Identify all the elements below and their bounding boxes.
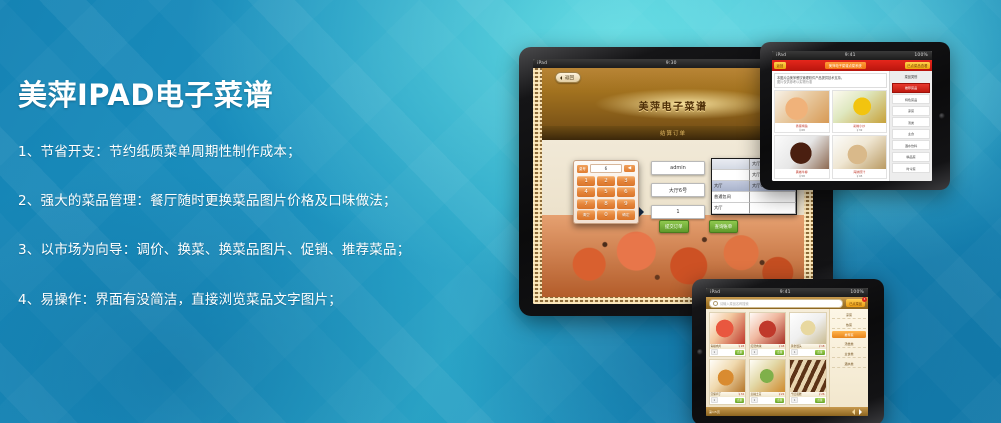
promo-banner: 美萍IPAD电子菜谱 1、节省开支：节约纸质菜单周期性制作成本； 2、强大的菜品… xyxy=(0,0,1001,423)
dish-image xyxy=(775,136,829,169)
login-field-group: admin 大厅6号 1 xyxy=(651,161,705,219)
submit-order-button[interactable]: 提交订单 xyxy=(659,220,689,233)
query-bill-button[interactable]: 查询账单 xyxy=(709,220,739,233)
dish-actions: 1 点菜 xyxy=(750,349,786,356)
dish-price: ￥26 xyxy=(818,392,824,396)
dish-name: 红烧肉块 xyxy=(751,344,762,348)
keypad-input-row: 桌号 6 ◀ xyxy=(577,164,635,173)
search-input[interactable]: 请输入菜品名称搜索 xyxy=(709,299,843,308)
dish-card[interactable]: 宫保鸡丁 ￥32 1 点菜 xyxy=(709,359,747,404)
dish-image xyxy=(710,313,746,344)
status-carrier: iPad xyxy=(537,61,547,66)
back-button[interactable]: 返回 xyxy=(555,72,581,83)
feature-bullet-4: 4、易操作：界面有没简洁，直接浏览菜品文字图片； xyxy=(18,292,458,308)
dish-name: 宫保鸡丁 xyxy=(711,392,722,396)
app-body: 青椒肉片 ￥28 1 点菜 红烧肉块 xyxy=(706,309,868,407)
dish-price: ￥28 xyxy=(738,344,744,348)
table-field[interactable]: 大厅6号 xyxy=(651,183,705,197)
keypad-key-0[interactable]: 0 xyxy=(597,210,615,220)
table-row-area[interactable] xyxy=(712,159,750,170)
view-ordered-button[interactable]: 已点菜品查看 xyxy=(905,62,930,69)
sidebar-item-recommended[interactable]: 推荐菜品 xyxy=(892,83,930,93)
dish-price: ￥32 xyxy=(738,392,744,396)
order-action-buttons: 提交订单 查询账单 xyxy=(659,220,738,233)
tablet-top-right-screen: iPad 9:41 100% 返回 美萍电子菜谱点菜系统 已点菜品查看 本图片由… xyxy=(772,51,932,181)
sidebar-item-soup[interactable]: 汤类 xyxy=(892,117,930,127)
status-battery: 100% xyxy=(850,290,864,295)
pagination-footer: 第1/5页 xyxy=(706,407,868,416)
keypad-key-3[interactable]: 3 xyxy=(617,176,635,186)
table-row-area[interactable] xyxy=(712,170,750,181)
add-to-order-button[interactable]: 点菜 xyxy=(775,398,784,403)
cursor-pointer-icon xyxy=(639,207,649,217)
status-time: 9:41 xyxy=(720,290,850,295)
keypad-key-5[interactable]: 5 xyxy=(597,187,615,197)
keypad-key-9[interactable]: 9 xyxy=(617,199,635,209)
dish-card[interactable]: 海鲜捞汁 ￥45 xyxy=(832,135,888,179)
status-carrier: iPad xyxy=(710,290,720,295)
dish-card[interactable]: 黑椒牛柳 ￥58 xyxy=(774,135,830,179)
dish-name: 千层蛋糕 xyxy=(791,392,802,396)
sidebar-item-cold-dish[interactable]: 凉菜 xyxy=(892,106,930,116)
marketing-copy: 美萍IPAD电子菜谱 1、节省开支：节约纸质菜单周期性制作成本； 2、强大的菜品… xyxy=(18,72,458,308)
sidebar-item-drinks[interactable]: 酒水饮料 xyxy=(892,140,930,150)
dish-card[interactable]: 黄金馒头 ￥18 1 点菜 xyxy=(789,312,827,357)
dish-grid: 青椒肉片 ￥28 1 点菜 红烧肉块 xyxy=(709,312,827,405)
table-row-table[interactable] xyxy=(750,203,796,214)
dish-price: ￥32 xyxy=(833,128,887,133)
backspace-icon[interactable]: ◀ xyxy=(624,165,635,172)
dish-card[interactable]: 青椒肉片 ￥28 1 点菜 xyxy=(709,312,747,357)
sidebar-item-premium[interactable]: 精品菜 xyxy=(892,152,930,162)
sidebar-item-recommended[interactable]: 推荐菜 xyxy=(832,331,866,338)
dish-price: ￥45 xyxy=(833,174,887,179)
dish-image xyxy=(775,91,829,124)
add-to-order-button[interactable]: 点菜 xyxy=(815,350,824,355)
nav-arrow-left-icon[interactable] xyxy=(849,409,855,415)
status-time: 9:41 xyxy=(786,53,914,58)
add-to-order-button[interactable]: 点菜 xyxy=(815,398,824,403)
dish-price: ￥58 xyxy=(775,174,829,179)
feature-bullet-2: 2、强大的菜品管理：餐厅随时更换菜品图片价格及口味做法； xyxy=(18,193,458,209)
dish-grid-area: 本图片由美萍餐饮管理软件产品提供技术支持。 图片仅供参考以实物为准 香辣烤鱼 ￥… xyxy=(772,71,889,181)
dish-actions: 1 点菜 xyxy=(790,349,826,356)
tablet-bottom-right-screen: iPad 9:41 100% 请输入菜品名称搜索 已点菜品 3 xyxy=(706,288,868,416)
quantity-stepper[interactable]: 1 xyxy=(751,397,759,403)
keypad-key-8[interactable]: 8 xyxy=(597,199,615,209)
dish-card[interactable]: 红烧肉块 ￥48 1 点菜 xyxy=(749,312,787,357)
dish-name: 黄金馒头 xyxy=(791,344,802,348)
dish-name: 青椒肉片 xyxy=(711,344,722,348)
home-button-icon[interactable] xyxy=(697,349,703,355)
dish-actions: 1 点菜 xyxy=(710,397,746,404)
cart-badge: 3 xyxy=(862,297,867,302)
add-to-order-button[interactable]: 点菜 xyxy=(775,350,784,355)
table-row-area-selected[interactable]: 大厅 xyxy=(712,181,750,192)
add-to-order-button[interactable]: 点菜 xyxy=(735,398,744,403)
category-sidebar: 凉菜 热菜 推荐菜 汤羹类 主食类 酒水类 xyxy=(829,309,868,407)
notice-banner: 本图片由美萍餐饮管理软件产品提供技术支持。 图片仅供参考以实物为准 xyxy=(774,73,887,88)
sidebar-item-staple[interactable]: 主食 xyxy=(892,129,930,139)
dish-actions: 1 点菜 xyxy=(790,397,826,404)
dish-image xyxy=(833,136,887,169)
sub-header-label: 结算订单 xyxy=(660,129,686,137)
page-indicator: 第1/5页 xyxy=(709,410,720,414)
app-body: 本图片由美萍餐饮管理软件产品提供技术支持。 图片仅供参考以实物为准 香辣烤鱼 ￥… xyxy=(772,71,932,181)
dish-image xyxy=(833,91,887,124)
cart-button[interactable]: 已点菜品 3 xyxy=(846,299,865,307)
status-time: 9:30 xyxy=(547,61,795,66)
dish-grid: 香辣烤鱼 ￥68 彩椒小炒 ￥32 黑椒牛柳 ￥58 xyxy=(774,90,887,179)
user-field[interactable]: admin xyxy=(651,161,705,175)
dish-grid-area: 青椒肉片 ￥28 1 点菜 红烧肉块 xyxy=(706,309,829,407)
dish-card[interactable]: 千层蛋糕 ￥26 1 点菜 xyxy=(789,359,827,404)
table-row-area[interactable]: 大厅 xyxy=(712,203,750,214)
sidebar-item-staple[interactable]: 主食类 xyxy=(832,350,866,358)
keypad-key-6[interactable]: 6 xyxy=(617,187,635,197)
dish-image xyxy=(790,360,826,391)
dish-price: ￥22 xyxy=(778,392,784,396)
page-title: 美萍IPAD电子菜谱 xyxy=(18,72,458,114)
quantity-stepper[interactable]: 1 xyxy=(751,349,759,355)
quantity-stepper[interactable]: 1 xyxy=(711,397,719,403)
search-placeholder: 请输入菜品名称搜索 xyxy=(720,301,749,306)
app-toolbar: 返回 美萍电子菜谱点菜系统 已点菜品查看 xyxy=(772,60,932,71)
search-icon xyxy=(713,301,718,306)
dish-price: ￥48 xyxy=(778,344,784,348)
tablet-device-top-right: iPad 9:41 100% 返回 美萍电子菜谱点菜系统 已点菜品查看 本图片由… xyxy=(760,42,950,190)
status-battery: 100% xyxy=(914,53,928,58)
dish-image xyxy=(750,313,786,344)
keypad-key-clear[interactable]: 清空 xyxy=(577,210,595,220)
dish-actions: 1 点菜 xyxy=(750,397,786,404)
tablet-device-bottom-right: iPad 9:41 100% 请输入菜品名称搜索 已点菜品 3 xyxy=(692,279,884,423)
quantity-stepper[interactable]: 1 xyxy=(791,349,799,355)
dish-card[interactable]: 尖椒土豆 ￥22 1 点菜 xyxy=(749,359,787,404)
sidebar-item-seasonal[interactable]: 时令菜 xyxy=(892,163,930,173)
sidebar-item-cold-dish[interactable]: 凉菜 xyxy=(832,311,866,319)
keypad-input[interactable]: 6 xyxy=(590,164,622,173)
back-button[interactable]: 返回 xyxy=(774,62,786,69)
home-button-icon[interactable] xyxy=(939,113,945,119)
keypad-input-label: 桌号 xyxy=(577,165,588,173)
keypad-key-1[interactable]: 1 xyxy=(577,176,595,186)
numeric-keypad-panel: 桌号 6 ◀ 1 2 3 4 5 6 7 8 9 清空 xyxy=(573,160,639,224)
dish-price: ￥68 xyxy=(775,128,829,133)
dish-card[interactable]: 彩椒小炒 ￥32 xyxy=(832,90,888,134)
nav-arrow-right-icon[interactable] xyxy=(859,409,865,415)
feature-bullet-3: 3、以市场为向导：调价、换菜、换菜品图片、促销、推荐菜品； xyxy=(18,242,458,258)
sidebar-item-hot-dish[interactable]: 热菜 xyxy=(832,321,866,329)
sidebar-item-soup[interactable]: 汤羹类 xyxy=(832,340,866,348)
dish-image xyxy=(710,360,746,391)
ios-status-bar: iPad 9:41 100% xyxy=(772,51,932,60)
greek-key-border-left xyxy=(533,68,542,304)
feature-bullet-1: 1、节省开支：节约纸质菜单周期性制作成本； xyxy=(18,144,458,160)
sidebar-title: 菜品类别 xyxy=(892,73,930,81)
dish-price: ￥18 xyxy=(818,344,824,348)
app-toolbar: 请输入菜品名称搜索 已点菜品 3 xyxy=(706,297,868,309)
sidebar-item-drinks[interactable]: 酒水类 xyxy=(832,360,866,368)
quantity-stepper[interactable]: 1 xyxy=(791,397,799,403)
dish-image xyxy=(750,360,786,391)
pagination-controls xyxy=(849,409,865,415)
table-row-area[interactable]: 普通包间 xyxy=(712,192,750,203)
category-sidebar: 菜品类别 推荐菜品 特色菜品 凉菜 汤类 主食 酒水饮料 精品菜 时令菜 xyxy=(889,71,932,181)
keypad-key-2[interactable]: 2 xyxy=(597,176,615,186)
toolbar-title: 美萍电子菜谱点菜系统 xyxy=(825,62,866,69)
dish-name: 尖椒土豆 xyxy=(751,392,762,396)
dish-image xyxy=(790,313,826,344)
notice-line-2: 图片仅供参考以实物为准 xyxy=(777,80,884,85)
cart-label: 已点菜品 xyxy=(849,302,862,306)
dish-actions: 1 点菜 xyxy=(710,349,746,356)
status-carrier: iPad xyxy=(776,53,786,58)
ios-status-bar: iPad 9:41 100% xyxy=(706,288,868,297)
table-row-table[interactable] xyxy=(750,192,796,203)
add-to-order-button[interactable]: 点菜 xyxy=(735,350,744,355)
keypad-key-4[interactable]: 4 xyxy=(577,187,595,197)
dish-card[interactable]: 香辣烤鱼 ￥68 xyxy=(774,90,830,134)
sidebar-item-specialty[interactable]: 特色菜品 xyxy=(892,94,930,104)
count-field[interactable]: 1 xyxy=(651,205,705,219)
keypad-key-7[interactable]: 7 xyxy=(577,199,595,209)
keypad-grid: 1 2 3 4 5 6 7 8 9 清空 0 确定 xyxy=(577,176,635,221)
quantity-stepper[interactable]: 1 xyxy=(711,349,719,355)
keypad-key-enter[interactable]: 确定 xyxy=(617,210,635,220)
